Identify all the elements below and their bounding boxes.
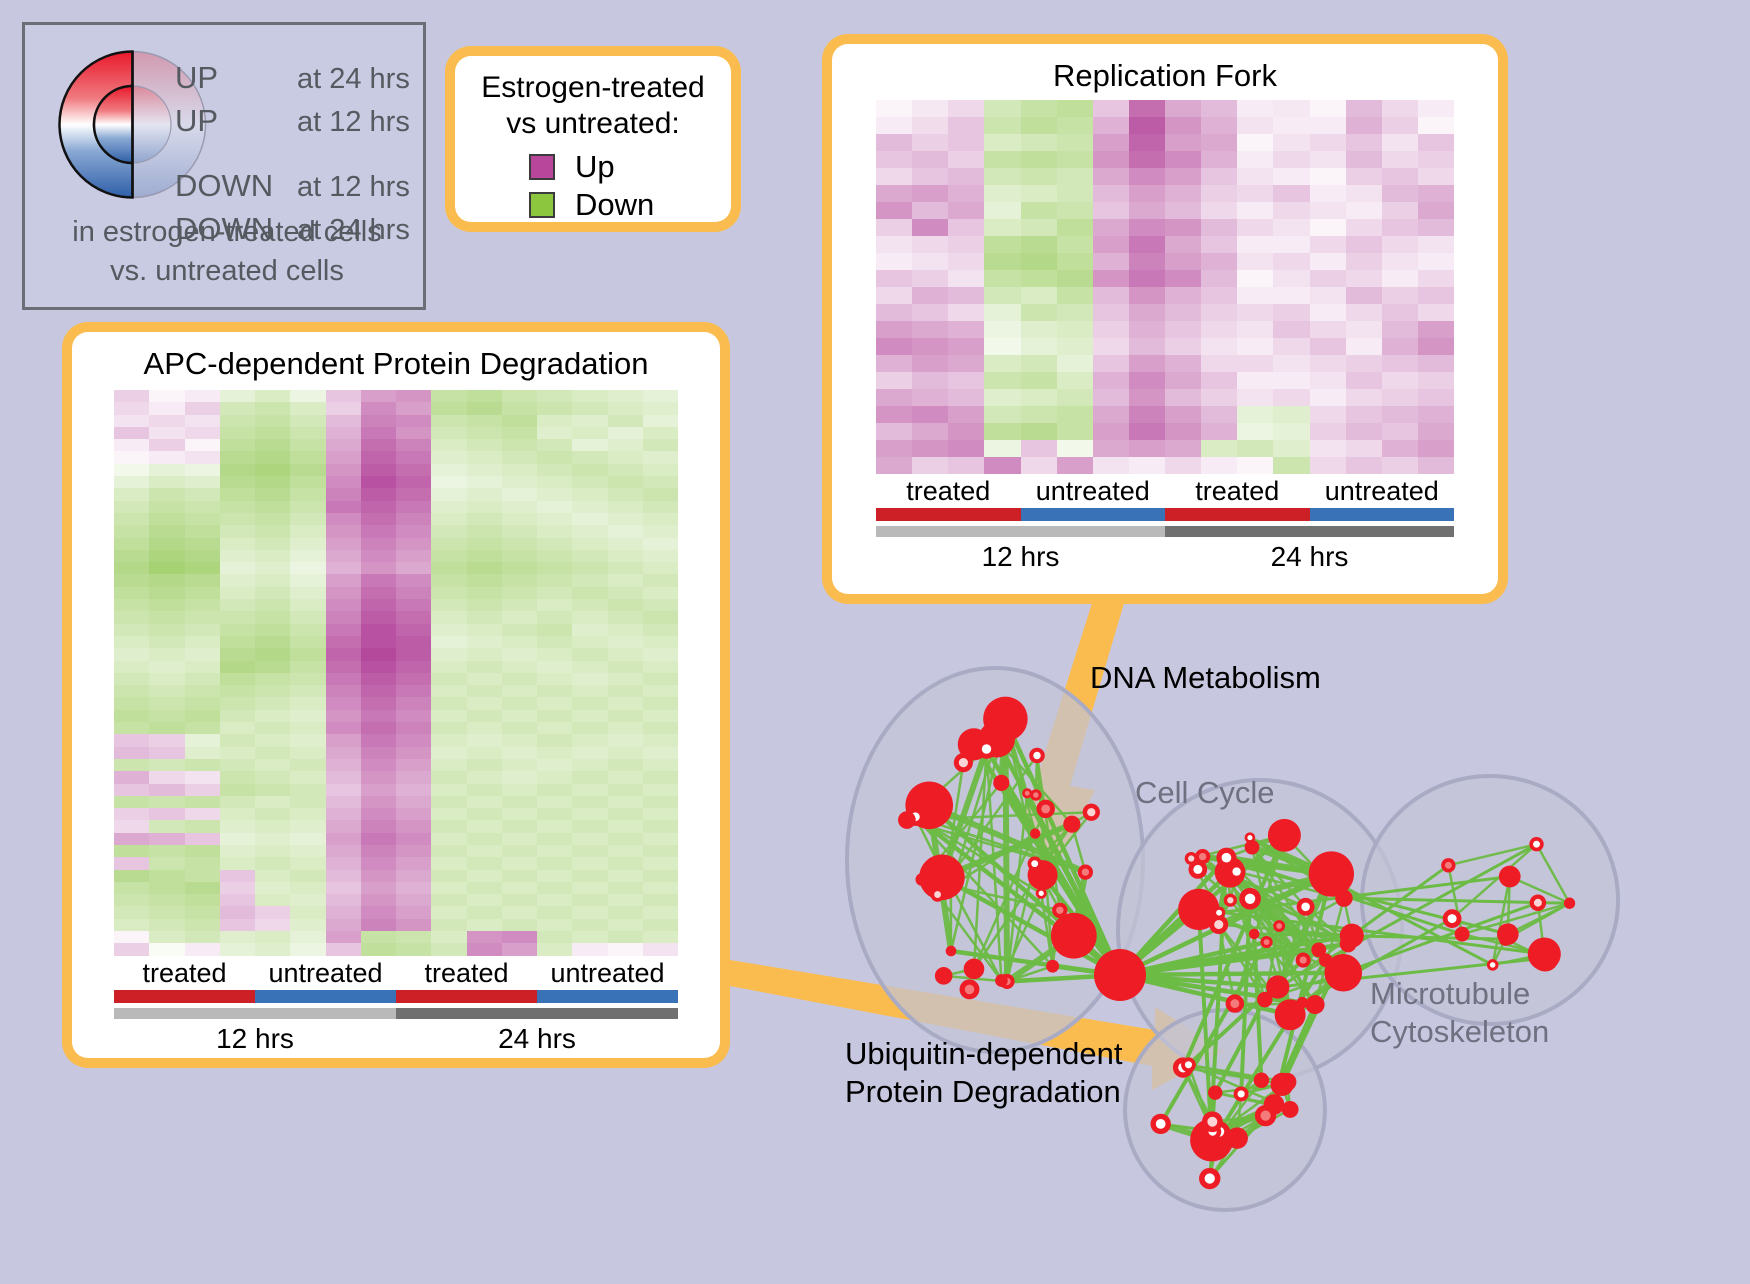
heatmap-cell bbox=[1021, 151, 1057, 168]
heatmap-cell bbox=[431, 624, 466, 636]
heatmap-cell bbox=[149, 710, 184, 722]
heatmap-cell bbox=[1201, 219, 1237, 236]
heatmap-cell bbox=[502, 574, 537, 586]
heatmap-cell bbox=[1346, 134, 1382, 151]
heatmap-cell bbox=[220, 697, 255, 709]
heatmap-cell bbox=[1418, 389, 1454, 406]
heatmap-cell bbox=[326, 894, 361, 906]
heatmap-cell bbox=[1418, 304, 1454, 321]
heatmap-cell bbox=[1021, 236, 1057, 253]
heatmap-cell bbox=[361, 501, 396, 513]
heatmap-cell bbox=[502, 636, 537, 648]
heatmap-cell bbox=[149, 525, 184, 537]
heatmap-cell bbox=[502, 673, 537, 685]
heatmap-cell bbox=[1346, 151, 1382, 168]
heatmap-cell bbox=[185, 697, 220, 709]
heatmap-cell bbox=[1382, 219, 1418, 236]
network-node bbox=[1278, 1073, 1296, 1091]
heatmap-cell bbox=[149, 624, 184, 636]
heatmap-cell bbox=[537, 439, 572, 451]
heatmap-cell bbox=[149, 833, 184, 845]
heatmap-cell bbox=[255, 931, 290, 943]
heatmap-cell bbox=[114, 685, 149, 697]
heatmap-cell bbox=[114, 894, 149, 906]
heatmap-cell bbox=[1129, 304, 1165, 321]
heatmap-cell bbox=[185, 636, 220, 648]
heatmap-cell bbox=[1093, 423, 1129, 440]
heatmap-cell bbox=[876, 236, 912, 253]
heatmap-cell bbox=[1129, 287, 1165, 304]
heatmap-cell bbox=[1237, 151, 1273, 168]
heatmap-cell bbox=[537, 673, 572, 685]
heatmap-cell bbox=[467, 451, 502, 463]
heatmap-cell bbox=[467, 919, 502, 931]
heatmap-cell bbox=[1346, 338, 1382, 355]
heatmap-cell bbox=[326, 624, 361, 636]
heatmap-cell bbox=[502, 759, 537, 771]
heatmap-cell bbox=[114, 562, 149, 574]
heatmap-cell bbox=[643, 451, 678, 463]
heatmap-cell bbox=[537, 661, 572, 673]
heatmap-cell bbox=[643, 943, 678, 955]
heatmap-cell bbox=[1382, 253, 1418, 270]
heatmap-cell bbox=[643, 685, 678, 697]
heatmap-cell bbox=[1273, 440, 1309, 457]
network-node bbox=[936, 866, 955, 885]
heatmap-cell bbox=[984, 270, 1020, 287]
heatmap-cell bbox=[948, 389, 984, 406]
heatmap-cell bbox=[149, 685, 184, 697]
heatmap-cell bbox=[326, 574, 361, 586]
heatmap-cell bbox=[1273, 185, 1309, 202]
heatmap-cell bbox=[290, 415, 325, 427]
heatmap-cell bbox=[326, 943, 361, 955]
heatmap-cell bbox=[467, 771, 502, 783]
heatmap-cell bbox=[220, 820, 255, 832]
heatmap-cell bbox=[537, 476, 572, 488]
group-label: treated bbox=[396, 956, 537, 990]
heatmap-cell bbox=[1418, 355, 1454, 372]
heatmap-cell bbox=[220, 550, 255, 562]
heatmap-cell bbox=[220, 722, 255, 734]
heatmap-cell bbox=[1201, 253, 1237, 270]
heatmap-cell bbox=[255, 562, 290, 574]
heatmap-cell bbox=[149, 943, 184, 955]
heatmap-cell bbox=[1382, 168, 1418, 185]
heatmap-cell bbox=[1201, 321, 1237, 338]
heatmap-cell bbox=[912, 372, 948, 389]
heatmap-cell bbox=[255, 488, 290, 500]
heatmap-cell bbox=[643, 624, 678, 636]
heatmap-cell bbox=[608, 636, 643, 648]
heatmap-cell bbox=[114, 771, 149, 783]
heatmap-cell bbox=[255, 673, 290, 685]
heatmap-cell bbox=[396, 451, 431, 463]
heatmap-cell bbox=[114, 931, 149, 943]
heatmap-cell bbox=[502, 525, 537, 537]
heatmap-cell bbox=[572, 747, 607, 759]
group-label: untreated bbox=[537, 956, 678, 990]
heatmap-cell bbox=[149, 439, 184, 451]
heatmap-cell bbox=[1021, 321, 1057, 338]
heatmap-cell bbox=[149, 464, 184, 476]
heatmap-cell bbox=[396, 697, 431, 709]
heatmap-cell bbox=[431, 722, 466, 734]
cluster-label-cell-cycle: Cell Cycle bbox=[1135, 775, 1275, 811]
heatmap-cell bbox=[361, 488, 396, 500]
heatmap-cell bbox=[572, 919, 607, 931]
heatmap-cell bbox=[431, 784, 466, 796]
replication-fork-title: Replication Fork bbox=[832, 44, 1498, 96]
heatmap-cell bbox=[608, 722, 643, 734]
heatmap-cell bbox=[572, 722, 607, 734]
heatmap-cell bbox=[396, 415, 431, 427]
heatmap-cell bbox=[1310, 253, 1346, 270]
bar-segment bbox=[396, 990, 537, 1003]
heatmap-cell bbox=[361, 439, 396, 451]
heatmap-cell bbox=[608, 710, 643, 722]
heatmap-cell bbox=[572, 734, 607, 746]
heatmap-cell bbox=[220, 501, 255, 513]
heatmap-cell bbox=[149, 697, 184, 709]
network-svg bbox=[790, 600, 1750, 1279]
heatmap-cell bbox=[572, 697, 607, 709]
heatmap-cell bbox=[608, 906, 643, 918]
network-hub-node bbox=[1094, 949, 1146, 1001]
heatmap-cell bbox=[984, 457, 1020, 474]
heatmap-cell bbox=[467, 833, 502, 845]
heatmap-cell bbox=[1129, 134, 1165, 151]
heatmap-cell bbox=[290, 390, 325, 402]
heatmap-cell bbox=[643, 611, 678, 623]
heatmap-cell bbox=[1382, 389, 1418, 406]
heatmap-cell bbox=[290, 599, 325, 611]
bar-segment bbox=[876, 526, 1165, 537]
replication-fork-panel: Replication Fork treated untreated treat… bbox=[822, 34, 1508, 604]
network-node bbox=[1030, 828, 1040, 838]
heatmap-cell bbox=[114, 710, 149, 722]
heatmap-cell bbox=[912, 406, 948, 423]
heatmap-cell bbox=[185, 906, 220, 918]
heatmap-cell bbox=[1057, 219, 1093, 236]
cluster-label-microtubule: Microtubule Cytoskeleton bbox=[1370, 975, 1549, 1051]
heatmap-cell bbox=[1129, 321, 1165, 338]
replication-time-bar bbox=[876, 526, 1454, 537]
heatmap-cell bbox=[467, 439, 502, 451]
heatmap-cell bbox=[361, 697, 396, 709]
heatmap-cell bbox=[1382, 287, 1418, 304]
heatmap-cell bbox=[114, 808, 149, 820]
heatmap-cell bbox=[876, 338, 912, 355]
heatmap-cell bbox=[361, 870, 396, 882]
heatmap-cell bbox=[361, 820, 396, 832]
heatmap-cell bbox=[255, 845, 290, 857]
heatmap-cell bbox=[396, 390, 431, 402]
heatmap-cell bbox=[912, 134, 948, 151]
heatmap-cell bbox=[431, 587, 466, 599]
heatmap-cell bbox=[876, 270, 912, 287]
heatmap-cell bbox=[502, 538, 537, 550]
heatmap-cell bbox=[467, 722, 502, 734]
heatmap-cell bbox=[114, 525, 149, 537]
heatmap-cell bbox=[912, 304, 948, 321]
heatmap-cell bbox=[431, 734, 466, 746]
cluster-label-ubiquitin: Ubiquitin-dependent Protein Degradation bbox=[845, 1035, 1123, 1111]
network-node-core bbox=[1216, 910, 1222, 916]
heatmap-cell bbox=[948, 219, 984, 236]
heatmap-cell bbox=[572, 476, 607, 488]
heatmap-cell bbox=[149, 415, 184, 427]
heatmap-cell bbox=[361, 661, 396, 673]
heatmap-cell bbox=[1382, 202, 1418, 219]
heatmap-cell bbox=[572, 673, 607, 685]
heatmap-cell bbox=[396, 402, 431, 414]
heatmap-cell bbox=[948, 117, 984, 134]
heatmap-cell bbox=[502, 697, 537, 709]
heatmap-cell bbox=[431, 402, 466, 414]
heatmap-cell bbox=[1021, 457, 1057, 474]
heatmap-cell bbox=[220, 833, 255, 845]
heatmap-cell bbox=[326, 771, 361, 783]
heatmap-cell bbox=[255, 894, 290, 906]
heatmap-cell bbox=[396, 771, 431, 783]
heatmap-cell bbox=[1129, 100, 1165, 117]
heatmap-cell bbox=[185, 747, 220, 759]
heatmap-cell bbox=[912, 202, 948, 219]
heatmap-cell bbox=[361, 624, 396, 636]
heatmap-cell bbox=[185, 439, 220, 451]
heatmap-cell bbox=[396, 906, 431, 918]
network-node bbox=[1340, 936, 1357, 953]
heatmap-cell bbox=[220, 562, 255, 574]
heatmap-cell bbox=[643, 759, 678, 771]
heatmap-cell bbox=[1129, 117, 1165, 134]
heatmap-cell bbox=[912, 287, 948, 304]
heatmap-cell bbox=[948, 355, 984, 372]
heatmap-cell bbox=[220, 476, 255, 488]
network-node-core bbox=[1448, 914, 1457, 923]
heatmap-cell bbox=[290, 451, 325, 463]
heatmap-cell bbox=[1093, 287, 1129, 304]
heatmap-cell bbox=[290, 808, 325, 820]
network-node bbox=[1306, 995, 1325, 1014]
heatmap-cell bbox=[1093, 355, 1129, 372]
heatmap-cell bbox=[1346, 304, 1382, 321]
heatmap-cell bbox=[876, 406, 912, 423]
heatmap-cell bbox=[643, 784, 678, 796]
heatmap-cell bbox=[643, 562, 678, 574]
heatmap-cell bbox=[948, 372, 984, 389]
heatmap-cell bbox=[220, 796, 255, 808]
heatmap-cell bbox=[326, 784, 361, 796]
heatmap-cell bbox=[114, 390, 149, 402]
heatmap-cell bbox=[537, 513, 572, 525]
heatmap-cell bbox=[1237, 321, 1273, 338]
heatmap-cell bbox=[361, 882, 396, 894]
heatmap-cell bbox=[396, 513, 431, 525]
heatmap-cell bbox=[185, 562, 220, 574]
heatmap-cell bbox=[572, 439, 607, 451]
heatmap-cell bbox=[185, 685, 220, 697]
color-key-keyword: UP bbox=[175, 57, 297, 98]
heatmap-cell bbox=[114, 870, 149, 882]
heatmap-cell bbox=[502, 845, 537, 857]
heatmap-cell bbox=[1237, 202, 1273, 219]
heatmap-cell bbox=[948, 287, 984, 304]
heatmap-cell bbox=[220, 488, 255, 500]
heatmap-cell bbox=[502, 784, 537, 796]
heatmap-cell bbox=[1021, 338, 1057, 355]
heatmap-cell bbox=[572, 870, 607, 882]
heatmap-cell bbox=[1093, 185, 1129, 202]
heatmap-cell bbox=[1418, 338, 1454, 355]
heatmap-cell bbox=[1346, 236, 1382, 253]
heatmap-cell bbox=[608, 525, 643, 537]
heatmap-cell bbox=[290, 894, 325, 906]
heatmap-cell bbox=[876, 151, 912, 168]
heatmap-cell bbox=[1237, 355, 1273, 372]
heatmap-cell bbox=[361, 611, 396, 623]
heatmap-cell bbox=[608, 513, 643, 525]
heatmap-cell bbox=[467, 710, 502, 722]
heatmap-cell bbox=[502, 734, 537, 746]
network-node-core bbox=[1230, 999, 1239, 1008]
heatmap-cell bbox=[1021, 440, 1057, 457]
heatmap-cell bbox=[326, 451, 361, 463]
apc-heatmap bbox=[114, 390, 678, 956]
heatmap-cell bbox=[984, 236, 1020, 253]
heatmap-cell bbox=[1057, 134, 1093, 151]
heatmap-cell bbox=[502, 488, 537, 500]
heatmap-cell bbox=[643, 882, 678, 894]
heatmap-cell bbox=[572, 415, 607, 427]
heatmap-cell bbox=[502, 464, 537, 476]
heatmap-cell bbox=[431, 882, 466, 894]
heatmap-cell bbox=[185, 931, 220, 943]
heatmap-cell bbox=[984, 440, 1020, 457]
heatmap-cell bbox=[1418, 219, 1454, 236]
heatmap-cell bbox=[1057, 457, 1093, 474]
heatmap-cell bbox=[1165, 372, 1201, 389]
heatmap-cell bbox=[255, 796, 290, 808]
heatmap-cell bbox=[1057, 355, 1093, 372]
heatmap-cell bbox=[396, 427, 431, 439]
heatmap-cell bbox=[1418, 423, 1454, 440]
heatmap-cell bbox=[361, 808, 396, 820]
heatmap-cell bbox=[255, 734, 290, 746]
color-key-time: at 24 hrs bbox=[297, 59, 410, 100]
heatmap-cell bbox=[290, 882, 325, 894]
heatmap-cell bbox=[537, 562, 572, 574]
network-node bbox=[995, 974, 1008, 987]
network-node bbox=[1499, 866, 1521, 888]
heatmap-cell bbox=[1418, 372, 1454, 389]
heatmap-cell bbox=[1093, 338, 1129, 355]
heatmap-cell bbox=[572, 906, 607, 918]
heatmap-cell bbox=[1237, 117, 1273, 134]
heatmap-cell bbox=[185, 919, 220, 931]
heatmap-cell bbox=[185, 599, 220, 611]
heatmap-cell bbox=[912, 151, 948, 168]
heatmap-cell bbox=[643, 894, 678, 906]
apc-time-bar bbox=[114, 1008, 678, 1019]
heatmap-cell bbox=[290, 771, 325, 783]
bar-segment bbox=[1165, 526, 1454, 537]
network-node-core bbox=[965, 985, 975, 995]
heatmap-cell bbox=[643, 919, 678, 931]
heatmap-cell bbox=[984, 151, 1020, 168]
network-node bbox=[915, 873, 928, 886]
heatmap-cell bbox=[1093, 100, 1129, 117]
heatmap-cell bbox=[220, 919, 255, 931]
heatmap-cell bbox=[1382, 185, 1418, 202]
heatmap-cell bbox=[1093, 253, 1129, 270]
heatmap-cell bbox=[290, 648, 325, 660]
heatmap-cell bbox=[1201, 423, 1237, 440]
replication-group-bar bbox=[876, 508, 1454, 521]
heatmap-cell bbox=[1021, 117, 1057, 134]
heatmap-cell bbox=[643, 722, 678, 734]
heatmap-cell bbox=[1382, 406, 1418, 423]
heatmap-cell bbox=[1057, 338, 1093, 355]
heatmap-cell bbox=[220, 415, 255, 427]
heatmap-cell bbox=[255, 525, 290, 537]
heatmap-cell bbox=[643, 488, 678, 500]
heatmap-cell bbox=[1310, 406, 1346, 423]
heatmap-cell bbox=[643, 673, 678, 685]
heatmap-cell bbox=[396, 747, 431, 759]
heatmap-cell bbox=[608, 870, 643, 882]
heatmap-cell bbox=[984, 253, 1020, 270]
heatmap-cell bbox=[876, 355, 912, 372]
heatmap-cell bbox=[431, 894, 466, 906]
heatmap-cell bbox=[290, 820, 325, 832]
heatmap-cell bbox=[948, 321, 984, 338]
heatmap-cell bbox=[396, 882, 431, 894]
heatmap-cell bbox=[431, 771, 466, 783]
heatmap-cell bbox=[1346, 168, 1382, 185]
heatmap-cell bbox=[1310, 355, 1346, 372]
heatmap-cell bbox=[537, 943, 572, 955]
heatmap-cell bbox=[1129, 406, 1165, 423]
heatmap-cell bbox=[290, 722, 325, 734]
heatmap-cell bbox=[643, 857, 678, 869]
network-node bbox=[898, 811, 916, 829]
heatmap-cell bbox=[185, 820, 220, 832]
heatmap-cell bbox=[537, 759, 572, 771]
heatmap-cell bbox=[537, 415, 572, 427]
heatmap-cell bbox=[431, 427, 466, 439]
heatmap-cell bbox=[572, 759, 607, 771]
network-node bbox=[1063, 816, 1080, 833]
heatmap-cell bbox=[326, 661, 361, 673]
heatmap-cell bbox=[149, 661, 184, 673]
heatmap-cell bbox=[876, 321, 912, 338]
heatmap-cell bbox=[643, 501, 678, 513]
heatmap-cell bbox=[1310, 338, 1346, 355]
heatmap-cell bbox=[1273, 270, 1309, 287]
heatmap-cell bbox=[572, 820, 607, 832]
heatmap-cell bbox=[537, 451, 572, 463]
heatmap-cell bbox=[396, 538, 431, 550]
heatmap-cell bbox=[361, 415, 396, 427]
time-label: 12 hrs bbox=[114, 1019, 396, 1059]
heatmap-cell bbox=[220, 464, 255, 476]
heatmap-cell bbox=[290, 476, 325, 488]
apc-degradation-panel: APC-dependent Protein Degradation treate… bbox=[62, 322, 730, 1068]
heatmap-cell bbox=[948, 406, 984, 423]
heatmap-cell bbox=[984, 372, 1020, 389]
